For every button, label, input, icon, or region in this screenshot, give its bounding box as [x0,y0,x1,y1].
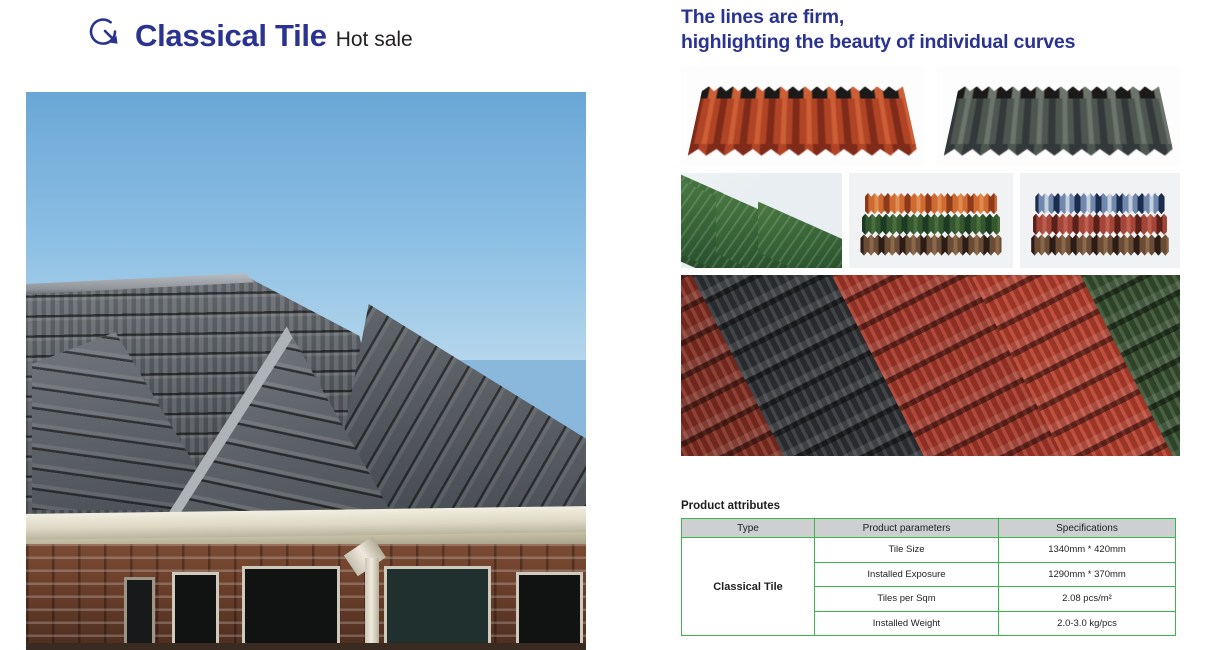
tile-sheet-charcoal-green-panel [945,93,1171,146]
tile-closeup-green[interactable] [681,173,842,268]
page-title: Classical Tile [135,20,327,51]
section-heading-line-1: The lines are firm, [681,5,1075,30]
column-header-params: Product parameters [815,519,999,538]
section-heading: The lines are firm, highlighting the bea… [681,5,1075,55]
window [124,577,155,650]
cell-specification: 1290mm * 370mm [999,562,1176,587]
tile-panel-multicolour[interactable] [681,275,1180,456]
tile-stack-group [860,193,1001,256]
downspout [365,558,380,650]
window [516,572,583,650]
cell-parameter: Installed Exposure [815,562,999,587]
cell-specification: 2.08 pcs/m² [999,587,1176,612]
window [172,572,220,650]
tile-closeup-green-surface [681,173,842,268]
column-header-type: Type [682,519,815,538]
attributes-title: Product attributes [681,500,780,512]
table-body: Classical Tile Tile Size 1340mm * 420mm … [682,538,1176,636]
column-header-specs: Specifications [999,519,1176,538]
tile-stack-blue-red-brown[interactable] [1020,173,1180,268]
table-row: Classical Tile Tile Size 1340mm * 420mm [682,538,1176,563]
tile-layer-blue [1035,193,1164,214]
tile-stack-orange-green-brown[interactable] [849,173,1013,268]
product-attributes-table: Type Product parameters Specifications C… [681,518,1176,636]
tile-layer-green [862,214,1000,235]
cell-specification: 1340mm * 420mm [999,538,1176,563]
tile-step [758,202,842,268]
window [384,566,490,650]
classical-tile-roof-photo [26,92,586,650]
gallery-row-bottom [681,275,1180,456]
left-column: Classical Tile Hot sale [0,0,640,650]
tile-layer-red [1033,214,1168,235]
gallery-row-top [681,66,1180,166]
tile-sheet-charcoal-green[interactable] [937,66,1180,166]
cell-parameter: Tiles per Sqm [815,587,999,612]
tile-sheet-red-panel [689,93,915,146]
cell-type-classical-tile: Classical Tile [682,538,815,636]
product-header: Classical Tile Hot sale [88,14,413,51]
cell-parameter: Installed Weight [815,611,999,636]
tile-layer-brown [860,234,1001,255]
tile-panel-multicolour-surface [681,275,1180,456]
window [242,566,340,650]
tile-layer-orange [865,193,998,214]
table-header: Type Product parameters Specifications [682,519,1176,538]
section-heading-line-2: highlighting the beauty of individual cu… [681,30,1075,55]
hot-sale-tagline: Hot sale [336,29,413,51]
cell-parameter: Tile Size [815,538,999,563]
tile-layer-brown [1031,234,1169,255]
gallery-row-middle [681,173,1180,268]
table-header-row: Type Product parameters Specifications [682,519,1176,538]
ground-line [26,643,586,650]
tile-gallery [681,66,1180,456]
tile-sheet-red[interactable] [681,66,924,166]
rotate-arrow-icon [88,14,122,48]
tile-stack-group [1031,193,1169,256]
cell-specification: 2.0-3.0 kg/pcs [999,611,1176,636]
